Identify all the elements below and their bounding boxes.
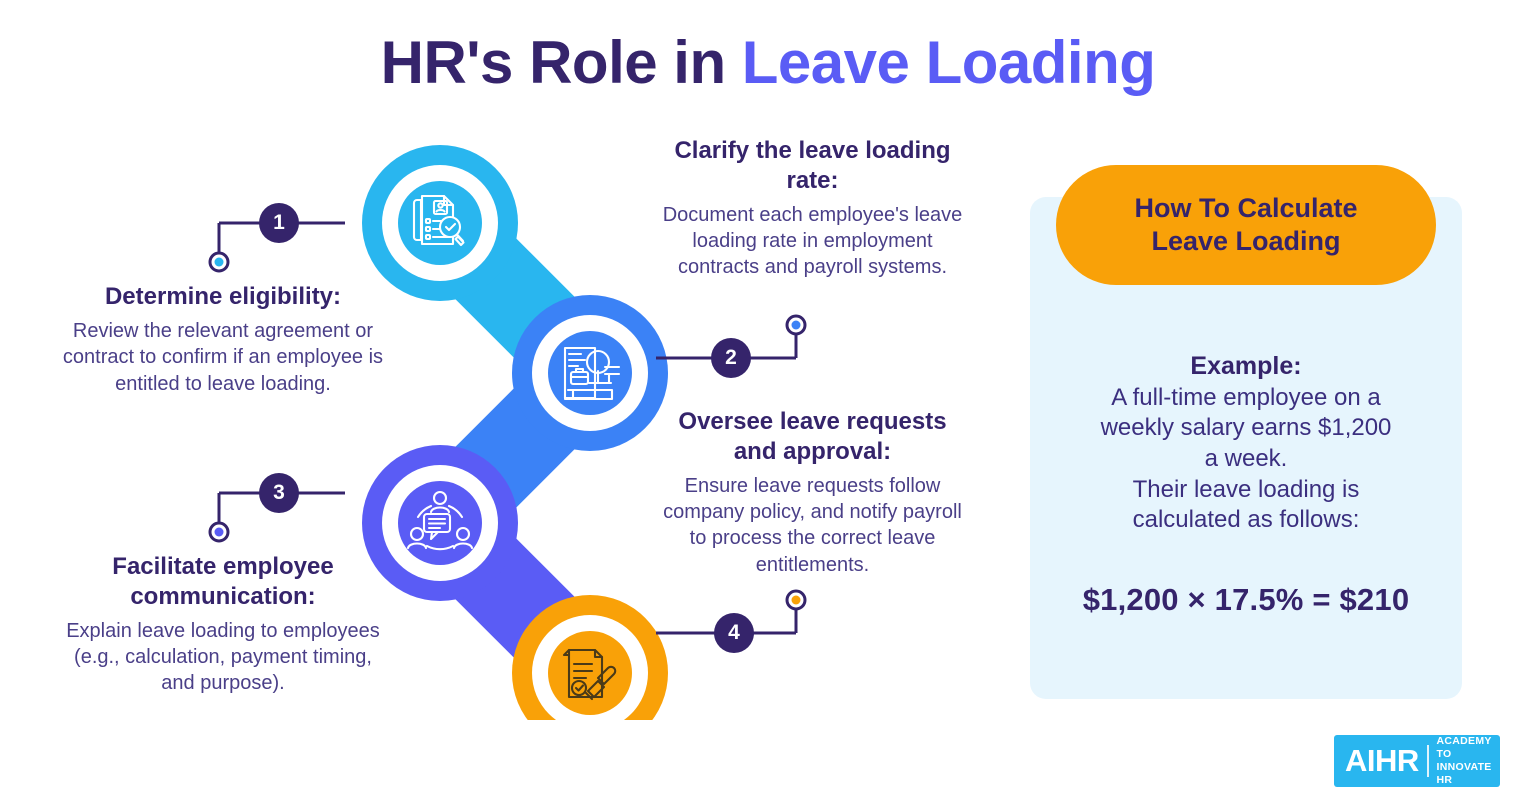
step-heading-3: Facilitate employee communication: — [58, 552, 388, 612]
aihr-logo: AIHR ACADEMY TO INNOVATE HR — [1334, 735, 1500, 787]
step-heading-2: Clarify the leave loading rate: — [655, 136, 970, 196]
logo-divider — [1427, 745, 1429, 777]
step-body-3: Explain leave loading to employees (e.g.… — [58, 618, 388, 697]
step-body-2: Document each employee's leave loading r… — [655, 202, 970, 281]
example-formula: $1,200 × 17.5% = $210 — [1050, 582, 1442, 618]
step-badge-4: 4 — [714, 613, 754, 653]
calculation-card-body: Example: A full-time employee on a weekl… — [1050, 350, 1442, 618]
infographic-page: HR's Role in Leave Loading — [0, 0, 1536, 803]
step-heading-1: Determine eligibility: — [58, 282, 388, 312]
calculation-card-title-pill: How To Calculate Leave Loading — [1056, 165, 1436, 285]
example-line-5: calculated as follows: — [1050, 505, 1442, 536]
example-line-3: a week. — [1050, 444, 1442, 475]
step-badge-2: 2 — [711, 338, 751, 378]
example-line-1: A full-time employee on a — [1050, 383, 1442, 414]
flow-node-2[interactable] — [512, 295, 668, 451]
logo-tagline-line1: ACADEMY TO — [1437, 735, 1492, 760]
page-title-part1: HR's Role in — [381, 29, 742, 96]
step-text-2: Clarify the leave loading rate: Document… — [655, 136, 970, 281]
example-heading: Example: — [1050, 350, 1442, 383]
step-text-3: Facilitate employee communication: Expla… — [58, 552, 388, 697]
page-title: HR's Role in Leave Loading — [0, 30, 1536, 96]
process-flow-graphic — [355, 140, 675, 720]
logo-tagline: ACADEMY TO INNOVATE HR — [1437, 735, 1501, 788]
pill-title: How To Calculate Leave Loading — [1134, 192, 1357, 258]
pill-title-line1: How To Calculate — [1134, 193, 1357, 223]
step-body-1: Review the relevant agreement or contrac… — [58, 318, 388, 397]
step-body-4: Ensure leave requests follow company pol… — [655, 473, 970, 579]
logo-tagline-line2: INNOVATE HR — [1437, 761, 1492, 786]
page-title-part2: Leave Loading — [742, 29, 1156, 96]
logo-wordmark: AIHR — [1334, 743, 1419, 779]
flow-node-1[interactable] — [362, 145, 518, 301]
step-text-1: Determine eligibility: Review the releva… — [58, 282, 388, 397]
step-badge-1: 1 — [259, 203, 299, 243]
step-heading-4: Oversee leave requests and approval: — [655, 407, 970, 467]
pill-title-line2: Leave Loading — [1151, 226, 1340, 256]
step-badge-3: 3 — [259, 473, 299, 513]
example-line-4: Their leave loading is — [1050, 475, 1442, 506]
step-text-4: Oversee leave requests and approval: Ens… — [655, 407, 970, 578]
example-line-2: weekly salary earns $1,200 — [1050, 413, 1442, 444]
